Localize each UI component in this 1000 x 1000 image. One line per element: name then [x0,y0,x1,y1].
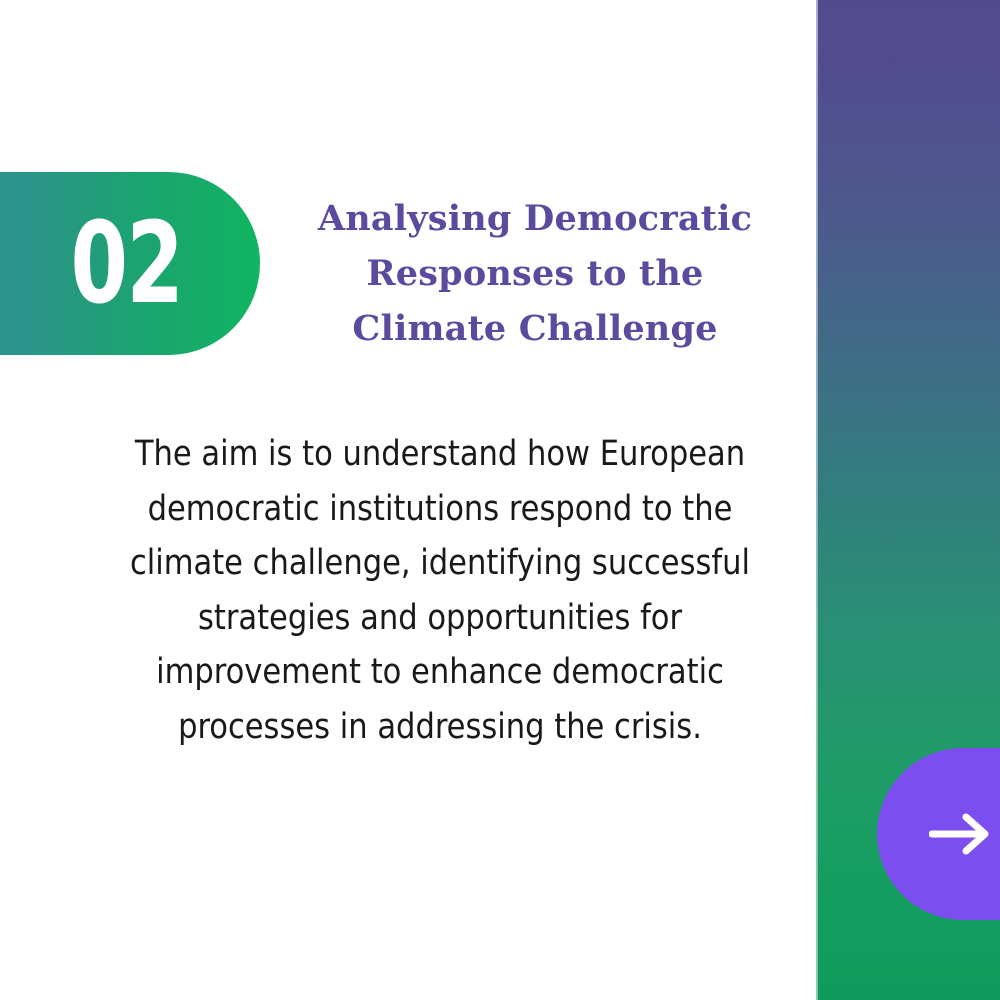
arrow-right-icon [929,811,991,857]
section-number-badge: 02 [0,172,260,355]
slide-body-text: The aim is to understand how European de… [105,427,774,754]
slide-title: Analysing Democratic Responses to the Cl… [295,191,775,356]
slide-canvas: 02 Analysing Democratic Responses to the… [0,0,1000,1000]
side-panel-edge-line [816,0,818,1000]
section-number-label: 02 [70,208,182,320]
